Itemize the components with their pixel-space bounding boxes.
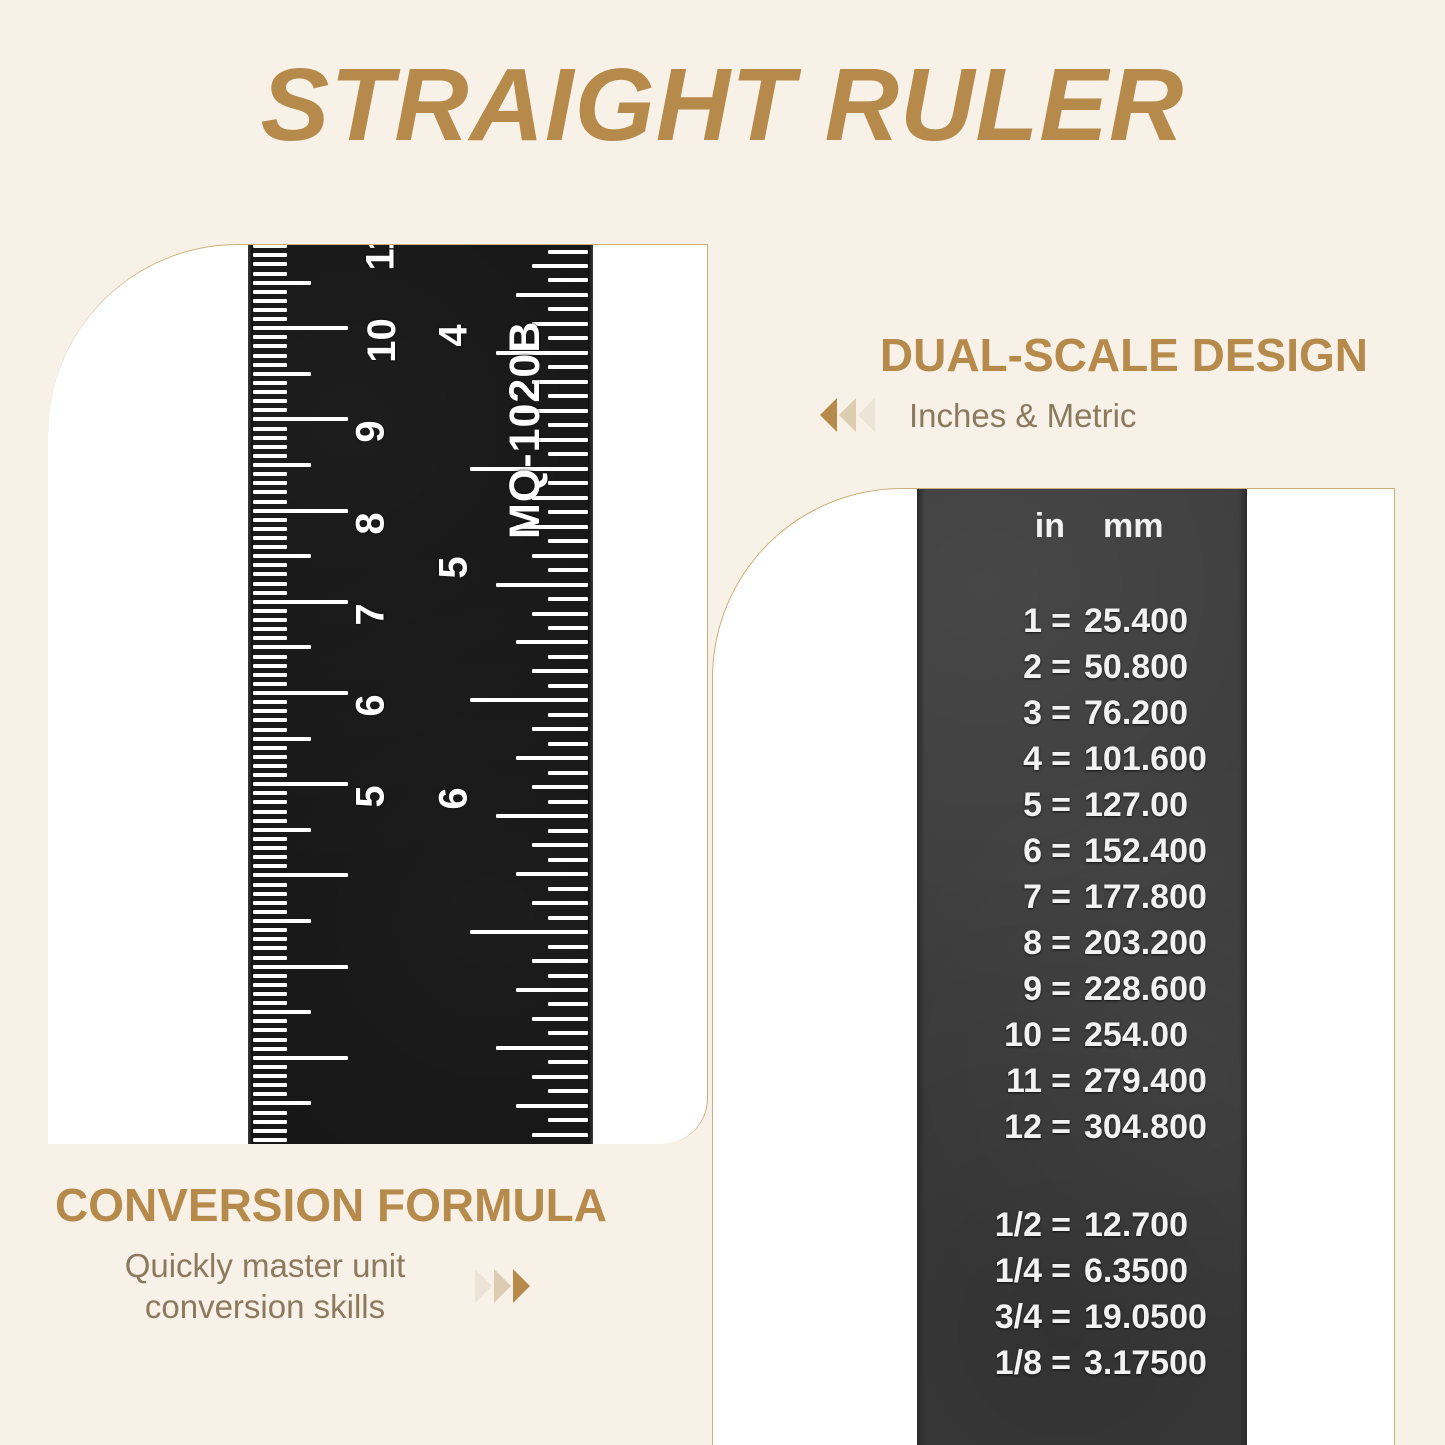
tick-mark: [253, 937, 287, 941]
tick-mark: [532, 612, 588, 616]
tick-mark: [516, 293, 588, 297]
tick-mark: [532, 1017, 588, 1021]
tick-mark: [532, 959, 588, 963]
tick-mark: [532, 554, 588, 558]
cell-inches: 2: [917, 648, 1042, 687]
tick-mark: [253, 837, 287, 841]
cell-inches: 6: [917, 832, 1042, 871]
tick-mark: [253, 1083, 287, 1087]
cell-equals: =: [1042, 1062, 1080, 1101]
tick-mark: [548, 1002, 588, 1006]
table-row: 1=25.400: [917, 602, 1247, 648]
cell-equals: =: [1042, 1298, 1080, 1337]
tick-mark: [253, 782, 348, 786]
tick-mark: [253, 910, 287, 914]
tick-mark: [253, 1056, 348, 1060]
tick-mark: [253, 591, 287, 595]
tick-mark: [548, 481, 588, 485]
cell-equals: =: [1042, 878, 1080, 917]
tick-mark: [253, 737, 311, 741]
tick-mark: [548, 394, 588, 398]
cell-inches: 1/8: [917, 1344, 1042, 1383]
tick-mark: [532, 785, 588, 789]
tick-mark: [548, 655, 588, 659]
tick-mark: [532, 1133, 588, 1137]
tick-mark: [253, 317, 287, 321]
cell-millimeters: 203.200: [1080, 924, 1247, 963]
ruler-right-edge: [588, 244, 593, 1144]
cell-inches: 8: [917, 924, 1042, 963]
tick-mark: [253, 1092, 287, 1096]
tick-mark: [548, 365, 588, 369]
tick-mark: [253, 1120, 287, 1124]
table-row: 10=254.00: [917, 1016, 1247, 1062]
table-header-row: in mm: [917, 507, 1247, 546]
table-row: 3=76.200: [917, 694, 1247, 740]
inch-to-millimeter-table: in mm 1=25.4002=50.8003=76.2004=101.6005…: [917, 507, 1247, 1390]
cell-inches: 7: [917, 878, 1042, 917]
tick-mark: [253, 928, 287, 932]
tick-mark: [253, 454, 287, 458]
table-row: 12=304.800: [917, 1108, 1247, 1154]
tick-mark: [253, 1038, 287, 1042]
tick-mark: [253, 372, 311, 376]
ruler-back-plate: in mm 1=25.4002=50.8003=76.2004=101.6005…: [917, 489, 1247, 1445]
tick-mark: [253, 600, 348, 604]
cell-millimeters: 152.400: [1080, 832, 1247, 871]
tick-mark: [532, 669, 588, 673]
chevron-left-icon: [820, 398, 837, 432]
tick-mark: [496, 583, 588, 587]
tick-mark: [253, 883, 287, 887]
tick-mark: [253, 709, 287, 713]
tick-mark: [253, 1101, 311, 1105]
table-row: 7=177.800: [917, 878, 1247, 924]
table-row: 1/4=6.3500: [917, 1252, 1247, 1298]
cell-inches: 11: [917, 1062, 1042, 1101]
tick-mark: [516, 1104, 588, 1108]
tick-mark: [253, 609, 287, 613]
tick-mark: [253, 819, 287, 823]
chevron-right-icon: [475, 1269, 492, 1303]
tick-mark: [253, 800, 287, 804]
tick-mark: [253, 390, 287, 394]
tick-mark: [548, 800, 588, 804]
tick-mark: [253, 864, 287, 868]
tick-mark: [253, 956, 287, 960]
cell-millimeters: 50.800: [1080, 648, 1247, 687]
cell-inches: 1/4: [917, 1252, 1042, 1291]
tick-mark: [253, 828, 311, 832]
table-section-gap: [917, 1154, 1247, 1206]
tick-mark: [253, 445, 287, 449]
tick-mark: [253, 618, 287, 622]
cell-millimeters: 19.0500: [1080, 1298, 1247, 1337]
tick-mark: [548, 1089, 588, 1093]
metric-scale-number: 8: [349, 512, 394, 534]
cell-inches: 4: [917, 740, 1042, 779]
table-row: 4=101.600: [917, 740, 1247, 786]
fractional-inch-rows: 1/2=12.7001/4=6.35003/4=19.05001/8=3.175…: [917, 1206, 1247, 1390]
tick-mark: [253, 481, 287, 485]
tick-mark: [253, 326, 348, 330]
tick-mark: [253, 1001, 287, 1005]
table-header-in: in: [917, 507, 1073, 546]
tick-mark: [253, 281, 311, 285]
table-row: 2=50.800: [917, 648, 1247, 694]
table-row: 6=152.400: [917, 832, 1247, 878]
table-row: 8=203.200: [917, 924, 1247, 970]
tick-mark: [253, 919, 311, 923]
cell-millimeters: 25.400: [1080, 602, 1247, 641]
tick-mark: [253, 399, 287, 403]
cell-equals: =: [1042, 1344, 1080, 1383]
tick-mark: [253, 344, 287, 348]
tick-mark: [253, 1047, 287, 1051]
page-title: STRAIGHT RULER: [0, 48, 1445, 161]
tick-mark: [548, 974, 588, 978]
tick-mark: [548, 568, 588, 572]
tick-mark: [253, 308, 287, 312]
inch-scale-number: 6: [431, 788, 476, 810]
tick-mark: [253, 536, 287, 540]
feature-conversion-formula-subrow: Quickly master unit conversion skills: [55, 1245, 715, 1328]
tick-mark: [532, 843, 588, 847]
feature-dual-scale-subtitle: Inches & Metric: [875, 395, 1136, 436]
tick-mark: [470, 930, 588, 934]
tick-mark: [253, 490, 287, 494]
cell-inches: 5: [917, 786, 1042, 825]
tick-mark: [532, 901, 588, 905]
cell-equals: =: [1042, 602, 1080, 641]
tick-mark: [253, 655, 287, 659]
tick-mark: [253, 244, 287, 248]
cell-inches: 12: [917, 1108, 1042, 1147]
feature-dual-scale: DUAL-SCALE DESIGN Inches & Metric: [790, 330, 1390, 436]
tick-mark: [253, 1019, 287, 1023]
tick-mark: [532, 727, 588, 731]
tick-mark: [253, 582, 287, 586]
tick-mark: [253, 673, 287, 677]
tick-mark: [253, 664, 287, 668]
tick-mark: [253, 500, 287, 504]
tick-mark: [253, 718, 287, 722]
tick-mark: [548, 829, 588, 833]
tick-mark: [253, 992, 287, 996]
tick-mark: [253, 290, 287, 294]
cell-millimeters: 127.00: [1080, 786, 1247, 825]
tick-mark: [548, 278, 588, 282]
tick-mark: [496, 814, 588, 818]
tick-mark: [253, 636, 287, 640]
cell-millimeters: 279.400: [1080, 1062, 1247, 1101]
tick-mark: [253, 1028, 287, 1032]
tick-mark: [548, 539, 588, 543]
tick-mark: [548, 250, 588, 254]
tick-mark: [253, 554, 311, 558]
feature-conversion-formula-subtitle: Quickly master unit conversion skills: [55, 1245, 475, 1328]
feature-conversion-formula-title: CONVERSION FORMULA: [55, 1180, 715, 1231]
cell-millimeters: 76.200: [1080, 694, 1247, 733]
cell-equals: =: [1042, 832, 1080, 871]
feature-conversion-formula: CONVERSION FORMULA Quickly master unit c…: [55, 1180, 715, 1327]
cell-equals: =: [1042, 1206, 1080, 1245]
tick-mark: [253, 408, 287, 412]
tick-mark: [253, 1010, 311, 1014]
table-row: 11=279.400: [917, 1062, 1247, 1108]
cell-inches: 10: [917, 1016, 1042, 1055]
metric-scale-number: 10: [360, 318, 405, 363]
tick-mark: [253, 527, 287, 531]
tick-mark: [253, 417, 348, 421]
tick-mark: [516, 988, 588, 992]
feature-dual-scale-subrow: Inches & Metric: [790, 395, 1390, 436]
cell-equals: =: [1042, 694, 1080, 733]
tick-mark: [253, 810, 287, 814]
cell-equals: =: [1042, 786, 1080, 825]
tick-mark: [253, 1138, 287, 1142]
cell-millimeters: 12.700: [1080, 1206, 1247, 1245]
cell-equals: =: [1042, 740, 1080, 779]
table-row: 9=228.600: [917, 970, 1247, 1016]
tick-mark: [253, 691, 348, 695]
tick-mark: [253, 965, 348, 969]
chevron-right-icon: [494, 1269, 511, 1303]
tick-mark: [253, 1111, 287, 1115]
tick-mark: [253, 1065, 287, 1069]
feature-dual-scale-title: DUAL-SCALE DESIGN: [790, 330, 1390, 381]
tick-mark: [253, 627, 287, 631]
tick-mark: [548, 307, 588, 311]
tick-mark: [253, 253, 287, 257]
tick-mark: [496, 1046, 588, 1050]
chevron-right-icon: [513, 1269, 530, 1303]
tick-mark: [253, 746, 287, 750]
metric-scale-number: 7: [349, 603, 394, 625]
tick-mark: [253, 773, 287, 777]
chevron-left-icon: [858, 398, 875, 432]
tick-mark: [548, 713, 588, 717]
tick-mark: [253, 1074, 287, 1078]
cell-millimeters: 6.3500: [1080, 1252, 1247, 1291]
table-row: 1/2=12.700: [917, 1206, 1247, 1252]
tick-mark: [548, 858, 588, 862]
tick-mark: [253, 855, 287, 859]
table-row: 1/8=3.17500: [917, 1344, 1247, 1390]
tick-mark: [253, 436, 287, 440]
tick-mark: [253, 892, 287, 896]
tick-mark: [253, 563, 287, 567]
cell-inches: 3: [917, 694, 1042, 733]
cell-millimeters: 177.800: [1080, 878, 1247, 917]
tick-mark: [548, 945, 588, 949]
tick-mark: [516, 872, 588, 876]
tick-mark: [548, 742, 588, 746]
metric-scale-number: 5: [349, 786, 394, 808]
tick-mark: [253, 873, 348, 877]
chevrons-left-group: [820, 398, 875, 432]
cell-millimeters: 304.800: [1080, 1108, 1247, 1147]
ruler-model-text: MQ-1020B: [501, 321, 550, 539]
table-row: 3/4=19.0500: [917, 1298, 1247, 1344]
tick-mark: [253, 755, 287, 759]
tick-mark: [253, 901, 287, 905]
tick-mark: [548, 452, 588, 456]
tick-mark: [253, 974, 287, 978]
table-header-mm: mm: [1073, 507, 1247, 546]
cell-millimeters: 3.17500: [1080, 1344, 1247, 1383]
metric-scale-number: 9: [349, 421, 394, 443]
ruler-photo-panel: 111098765 456 MADE IN MQ-1020B: [48, 244, 708, 1144]
tick-mark: [548, 771, 588, 775]
tick-mark: [253, 572, 287, 576]
ruler-photo-inner: 111098765 456 MADE IN MQ-1020B: [48, 245, 707, 1144]
tick-mark: [253, 728, 287, 732]
tick-mark: [253, 381, 287, 385]
tick-mark: [253, 545, 287, 549]
metric-scale-number: 11: [359, 244, 404, 271]
cell-equals: =: [1042, 924, 1080, 963]
tick-mark: [253, 272, 287, 276]
tick-mark: [253, 764, 287, 768]
tick-mark: [253, 645, 311, 649]
chevrons-right-group: [475, 1269, 530, 1303]
tick-mark: [253, 518, 287, 522]
tick-mark: [253, 983, 287, 987]
tick-mark: [253, 946, 287, 950]
tick-mark: [253, 509, 348, 513]
tick-mark: [253, 1129, 287, 1133]
cell-equals: =: [1042, 1108, 1080, 1147]
tick-mark: [253, 846, 287, 850]
tick-mark: [516, 756, 588, 760]
tick-mark: [253, 472, 287, 476]
cell-inches: 3/4: [917, 1298, 1042, 1337]
tick-mark: [470, 698, 588, 702]
tick-mark: [548, 916, 588, 920]
inch-scale-number: 4: [431, 324, 476, 346]
cell-equals: =: [1042, 1252, 1080, 1291]
tick-mark: [253, 427, 287, 431]
chevron-left-icon: [839, 398, 856, 432]
cell-inches: 1/2: [917, 1206, 1042, 1245]
cell-millimeters: 254.00: [1080, 1016, 1247, 1055]
tick-mark: [516, 640, 588, 644]
tick-mark: [548, 597, 588, 601]
tick-mark: [548, 423, 588, 427]
tick-mark: [532, 264, 588, 268]
cell-equals: =: [1042, 1016, 1080, 1055]
tick-mark: [548, 336, 588, 340]
table-row: 5=127.00: [917, 786, 1247, 832]
ruler-body: 111098765 456 MADE IN MQ-1020B: [248, 244, 593, 1144]
tick-mark: [532, 1075, 588, 1079]
tick-mark: [253, 363, 287, 367]
whole-inch-rows: 1=25.4002=50.8003=76.2004=101.6005=127.0…: [917, 602, 1247, 1154]
tick-mark: [548, 1118, 588, 1122]
cell-equals: =: [1042, 648, 1080, 687]
tick-mark: [253, 682, 287, 686]
cell-millimeters: 101.600: [1080, 740, 1247, 779]
cell-inches: 1: [917, 602, 1042, 641]
cell-inches: 9: [917, 970, 1042, 1009]
inch-scale-number: 5: [431, 556, 476, 578]
tick-mark: [253, 700, 287, 704]
tick-mark: [253, 791, 287, 795]
metric-scale-number: 6: [349, 694, 394, 716]
tick-mark: [253, 335, 287, 339]
tick-mark: [548, 1031, 588, 1035]
cell-equals: =: [1042, 970, 1080, 1009]
cell-millimeters: 228.600: [1080, 970, 1247, 1009]
tick-mark: [548, 1060, 588, 1064]
tick-mark: [253, 354, 287, 358]
tick-mark: [548, 510, 588, 514]
tick-mark: [548, 684, 588, 688]
tick-mark: [548, 887, 588, 891]
tick-mark: [253, 262, 287, 266]
tick-mark: [253, 299, 287, 303]
tick-mark: [548, 626, 588, 630]
tick-mark: [253, 463, 311, 467]
conversion-table-panel: in mm 1=25.4002=50.8003=76.2004=101.6005…: [712, 488, 1395, 1445]
